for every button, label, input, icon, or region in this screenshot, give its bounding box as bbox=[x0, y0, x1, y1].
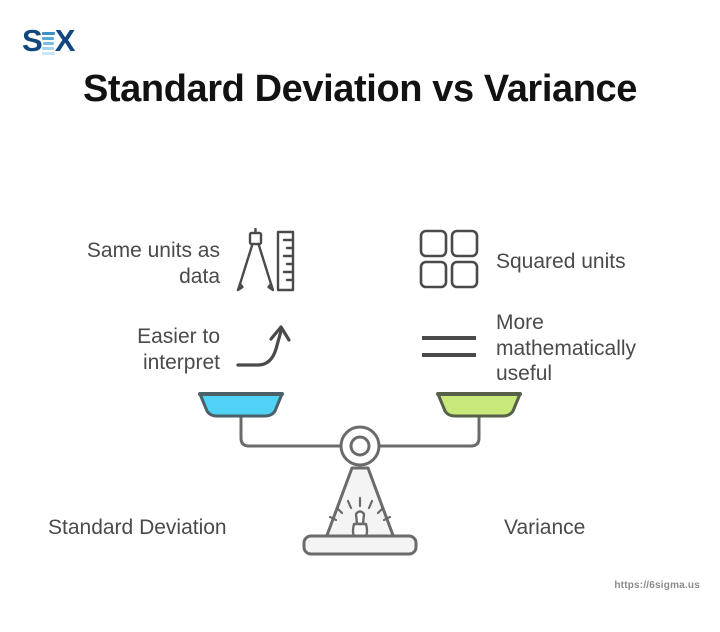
scale-pan-right bbox=[438, 394, 520, 416]
grid-squares-icon bbox=[418, 228, 480, 295]
feature-right-math-useful: More mathematically useful bbox=[418, 310, 636, 387]
feature-label: Squared units bbox=[496, 249, 626, 275]
compass-ruler-icon bbox=[234, 228, 296, 299]
logo-bar bbox=[42, 52, 55, 55]
infographic-canvas: S X Standard Deviation vs Variance Same … bbox=[0, 0, 720, 632]
logo-bar bbox=[43, 42, 54, 45]
balance-scale-icon bbox=[180, 380, 540, 570]
six-sigma-logo: S X bbox=[22, 22, 74, 56]
label-variance: Variance bbox=[504, 516, 585, 540]
page-title: Standard Deviation vs Variance bbox=[0, 68, 720, 111]
feature-right-squared-units: Squared units bbox=[418, 228, 626, 295]
site-watermark: https://6sigma.us bbox=[614, 580, 700, 591]
feature-left-easier-interpret: Easier to interpret bbox=[100, 318, 296, 381]
feature-label: Same units as data bbox=[87, 238, 220, 289]
logo-sigma-mark bbox=[41, 25, 56, 55]
feature-label: More mathematically useful bbox=[496, 310, 636, 387]
logo-letter-x: X bbox=[55, 25, 75, 56]
scale-pan-left bbox=[200, 394, 282, 416]
logo-letter-s: S bbox=[22, 25, 42, 56]
logo-bar bbox=[42, 32, 55, 35]
equals-icon bbox=[418, 323, 480, 374]
logo-bar bbox=[42, 37, 54, 40]
feature-label: Easier to interpret bbox=[137, 324, 220, 375]
logo-bar bbox=[42, 47, 54, 50]
feature-left-same-units: Same units as data bbox=[48, 228, 296, 299]
label-standard-deviation: Standard Deviation bbox=[48, 516, 227, 540]
rising-arrow-icon bbox=[234, 318, 296, 381]
